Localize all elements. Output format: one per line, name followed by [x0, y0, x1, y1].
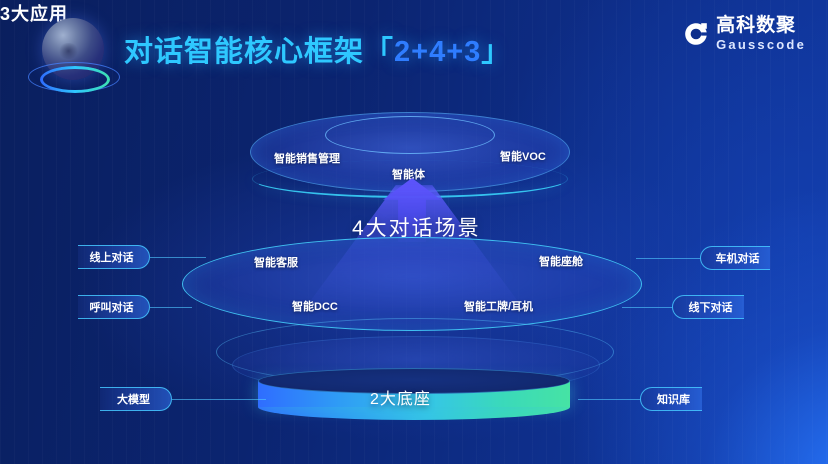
pill-offline-dialogue[interactable]: 线下对话 [672, 295, 744, 319]
scenario-label-badge-headset: 智能工牌/耳机 [464, 298, 533, 314]
pill-call-dialogue[interactable]: 呼叫对话 [78, 295, 150, 319]
scenario-label-cockpit: 智能座舱 [539, 253, 583, 269]
brand-name-cn: 高科数聚 [716, 16, 806, 35]
application-label-voc: 智能VOC [500, 148, 546, 164]
scenarios-disc [182, 237, 642, 331]
page-title: 对话智能核心框架「2+4+3」 [124, 28, 511, 70]
sphere-orb-icon [26, 14, 118, 102]
agent-label: 智能体 [392, 166, 425, 182]
pill-large-model[interactable]: 大模型 [100, 387, 172, 411]
application-label-sales: 智能销售管理 [274, 150, 340, 166]
pill-in-car-dialogue[interactable]: 车机对话 [700, 246, 770, 270]
foundation-title: 2大底座 [370, 385, 431, 409]
scenario-label-customer-service: 智能客服 [254, 254, 298, 270]
connector-online-dialogue [150, 257, 206, 258]
page-title-suffix: 」 [481, 36, 511, 68]
connector-call-dialogue [150, 307, 192, 308]
pill-online-dialogue[interactable]: 线上对话 [78, 245, 150, 269]
connector-offline-dialogue [622, 307, 672, 308]
brand-logo: 高科数聚 Gausscode [683, 16, 806, 51]
connector-in-car-dialogue [636, 258, 700, 259]
page-title-formula: 2+4+3 [394, 36, 481, 68]
scenario-label-dcc: 智能DCC [292, 298, 338, 314]
slide-canvas: 对话智能核心框架「2+4+3」 高科数聚 Gausscode 3大应用 智能销售… [0, 0, 828, 464]
connector-knowledge-base [578, 399, 640, 400]
pill-knowledge-base[interactable]: 知识库 [640, 387, 702, 411]
applications-inner-ring [325, 116, 495, 154]
orb-inner-glow-ring [40, 66, 110, 93]
brand-name-en: Gausscode [716, 38, 806, 51]
connector-large-model [172, 399, 266, 400]
page-title-prefix: 对话智能核心框架「 [124, 36, 394, 68]
gausscode-g-mark-icon [683, 21, 709, 47]
brand-text: 高科数聚 Gausscode [716, 16, 806, 51]
